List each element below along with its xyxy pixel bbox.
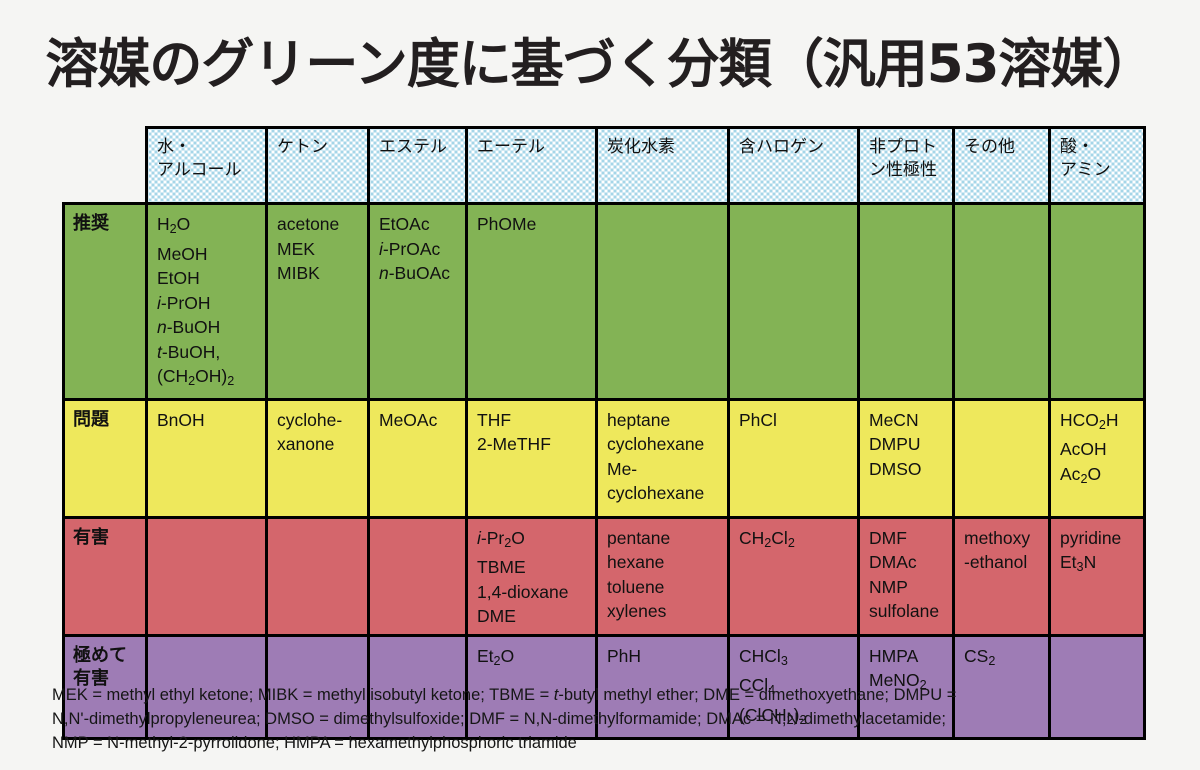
table-cell: HCO2HAcOHAc2O xyxy=(1050,399,1145,517)
solvent-entry: AcOH xyxy=(1060,437,1135,462)
solvent-entry: i-PrOAc xyxy=(379,237,457,262)
table-cell: i-Pr2OTBME1,4-dioxaneDME xyxy=(467,517,597,635)
column-header-hydrocarbon: 炭化水素 xyxy=(597,128,729,204)
column-header-line: その他 xyxy=(964,136,1040,159)
solvent-entry: THF xyxy=(477,408,587,433)
solvent-entry: MIBK xyxy=(277,261,359,286)
table-cell: MeOAc xyxy=(369,399,467,517)
solvent-entry: Me- xyxy=(607,457,719,482)
table-cell xyxy=(859,204,954,400)
table-row: 推奨 H2OMeOHEtOHi-PrOHn-BuOHt-BuOH,(CH2OH)… xyxy=(64,204,1145,400)
solvent-entry: sulfolane xyxy=(869,599,944,624)
table-cell: methoxy-ethanol xyxy=(954,517,1050,635)
solvent-entry: (CH2OH)2 xyxy=(157,364,257,394)
table-cell xyxy=(267,517,369,635)
solvent-entry: i-Pr2O xyxy=(477,526,587,556)
table-cell: PhCl xyxy=(729,399,859,517)
solvent-entry: heptane xyxy=(607,408,719,433)
table-cell: H2OMeOHEtOHi-PrOHn-BuOHt-BuOH,(CH2OH)2 xyxy=(147,204,267,400)
table-cell: pyridineEt3N xyxy=(1050,517,1145,635)
solvent-entry: 2-MeTHF xyxy=(477,432,587,457)
table-cell: THF2-MeTHF xyxy=(467,399,597,517)
row-header-recommended: 推奨 xyxy=(64,204,147,400)
solvent-entry: 1,4-dioxane xyxy=(477,580,587,605)
solvent-entry: MEK xyxy=(277,237,359,262)
table-cell xyxy=(1050,204,1145,400)
column-header-line: エステル xyxy=(379,136,457,159)
table-cell: EtOAci-PrOAcn-BuOAc xyxy=(369,204,467,400)
solvent-entry: EtOAc xyxy=(379,212,457,237)
solvent-entry: CHCl3 xyxy=(739,644,849,674)
row-header-problematic: 問題 xyxy=(64,399,147,517)
row-header-line: 有害 xyxy=(73,526,137,549)
solvent-entry: DMPU xyxy=(869,432,944,457)
solvent-entry: HMPA xyxy=(869,644,944,669)
table-corner-cell xyxy=(64,128,147,204)
solvent-entry: t-BuOH, xyxy=(157,340,257,365)
solvent-entry: MeOH xyxy=(157,242,257,267)
table-cell: BnOH xyxy=(147,399,267,517)
table-cell xyxy=(954,399,1050,517)
solvent-entry: i-PrOH xyxy=(157,291,257,316)
table-header-row: 水・アルコール ケトン エステル エーテル 炭化水素 含ハロゲン 非プロトン性極… xyxy=(64,128,1145,204)
column-header-line: アミン xyxy=(1060,159,1135,182)
row-header-hazardous: 有害 xyxy=(64,517,147,635)
column-header-acid-amine: 酸・アミン xyxy=(1050,128,1145,204)
solvent-entry: PhCl xyxy=(739,408,849,433)
solvent-entry: BnOH xyxy=(157,408,257,433)
solvent-entry: DME xyxy=(477,604,587,629)
solvent-entry: n-BuOAc xyxy=(379,261,457,286)
table-cell: PhOMe xyxy=(467,204,597,400)
column-header-line: 酸・ xyxy=(1060,136,1135,159)
column-header-ether: エーテル xyxy=(467,128,597,204)
solvent-entry: acetone xyxy=(277,212,359,237)
table-cell xyxy=(729,204,859,400)
column-header-line: 非プロト xyxy=(869,136,944,159)
solvent-entry: methoxy xyxy=(964,526,1040,551)
column-header-line: ケトン xyxy=(277,136,359,159)
column-header-line: ン性極性 xyxy=(869,159,944,182)
row-header-line: 問題 xyxy=(73,408,137,431)
table-body: 推奨 H2OMeOHEtOHi-PrOHn-BuOHt-BuOH,(CH2OH)… xyxy=(64,204,1145,739)
table-cell xyxy=(954,204,1050,400)
column-header-line: エーテル xyxy=(477,136,587,159)
solvent-entry: Et2O xyxy=(477,644,587,674)
table-cell: CH2Cl2 xyxy=(729,517,859,635)
table-cell: cyclohe-xanone xyxy=(267,399,369,517)
solvent-entry: -ethanol xyxy=(964,550,1040,575)
row-header-line: 推奨 xyxy=(73,212,137,235)
column-header-line: 炭化水素 xyxy=(607,136,719,159)
column-header-ketone: ケトン xyxy=(267,128,369,204)
solvent-entry: pentane xyxy=(607,526,719,551)
table-cell xyxy=(597,204,729,400)
solvent-entry: PhH xyxy=(607,644,719,669)
solvent-entry: Ac2O xyxy=(1060,462,1135,492)
table-cell: DMFDMAcNMPsulfolane xyxy=(859,517,954,635)
column-header-line: アルコール xyxy=(157,159,257,182)
solvent-entry: xanone xyxy=(277,432,359,457)
row-header-line: 極めて xyxy=(73,644,137,667)
table-row: 有害 i-Pr2OTBME1,4-dioxaneDME pentanehexan… xyxy=(64,517,1145,635)
solvent-entry: Et3N xyxy=(1060,550,1135,580)
solvent-entry: DMSO xyxy=(869,457,944,482)
solvent-entry: cyclohe- xyxy=(277,408,359,433)
page-title: 溶媒のグリーン度に基づく分類（汎用53溶媒） xyxy=(0,22,1200,98)
table-row: 問題 BnOH cyclohe-xanone MeOAc THF2-MeTHF … xyxy=(64,399,1145,517)
footnote-line: N,N'-dimethylpropyleneurea; DMSO = dimet… xyxy=(52,707,1162,731)
solvent-classification-table: 水・アルコール ケトン エステル エーテル 炭化水素 含ハロゲン 非プロトン性極… xyxy=(62,126,1146,740)
table-cell xyxy=(369,517,467,635)
table-cell: MeCNDMPUDMSO xyxy=(859,399,954,517)
solvent-entry: H2O xyxy=(157,212,257,242)
column-header-ester: エステル xyxy=(369,128,467,204)
solvent-entry: TBME xyxy=(477,555,587,580)
solvent-entry: MeCN xyxy=(869,408,944,433)
table-cell: pentanehexanetoluenexylenes xyxy=(597,517,729,635)
solvent-entry: cyclohexane xyxy=(607,481,719,506)
solvent-entry: CH2Cl2 xyxy=(739,526,849,556)
solvent-entry: DMAc xyxy=(869,550,944,575)
abbreviations-footnote: MEK = methyl ethyl ketone; MIBK = methyl… xyxy=(52,683,1162,755)
solvent-entry: xylenes xyxy=(607,599,719,624)
column-header-line: 水・ xyxy=(157,136,257,159)
footnote-line: NMP = N-methyl-2-pyrrolidone; HMPA = hex… xyxy=(52,731,1162,755)
solvent-entry: n-BuOH xyxy=(157,315,257,340)
solvent-entry: EtOH xyxy=(157,266,257,291)
column-header-other: その他 xyxy=(954,128,1050,204)
solvent-entry: DMF xyxy=(869,526,944,551)
solvent-entry: CS2 xyxy=(964,644,1040,674)
solvent-entry: NMP xyxy=(869,575,944,600)
solvent-entry: MeOAc xyxy=(379,408,457,433)
solvent-entry: toluene xyxy=(607,575,719,600)
column-header-water-alcohol: 水・アルコール xyxy=(147,128,267,204)
table-cell: heptanecyclohexaneMe-cyclohexane xyxy=(597,399,729,517)
column-header-line: 含ハロゲン xyxy=(739,136,849,159)
column-header-halogenated: 含ハロゲン xyxy=(729,128,859,204)
solvent-entry: PhOMe xyxy=(477,212,587,237)
table-cell: acetoneMEKMIBK xyxy=(267,204,369,400)
solvent-entry: HCO2H xyxy=(1060,408,1135,438)
solvent-entry: pyridine xyxy=(1060,526,1135,551)
solvent-entry: hexane xyxy=(607,550,719,575)
footnote-line: MEK = methyl ethyl ketone; MIBK = methyl… xyxy=(52,683,1162,707)
table-cell xyxy=(147,517,267,635)
column-header-dipolar-aprotic: 非プロトン性極性 xyxy=(859,128,954,204)
solvent-entry: cyclohexane xyxy=(607,432,719,457)
